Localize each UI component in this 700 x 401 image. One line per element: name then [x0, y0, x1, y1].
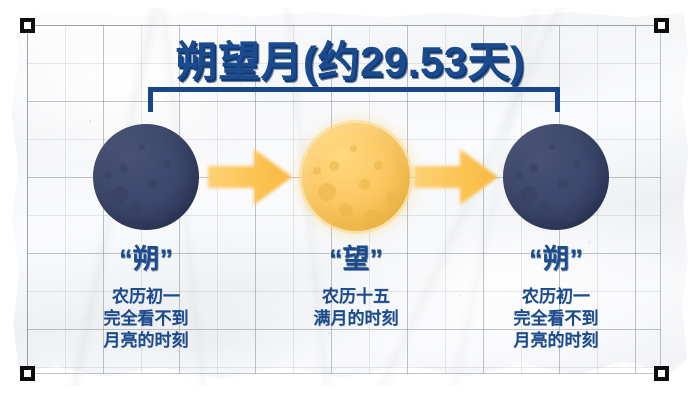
phase-block-new-moon-left: “朔” 农历初一 完全看不到 月亮的时刻: [46, 246, 246, 352]
registration-mark-bottom-right: [654, 366, 669, 381]
crater: [558, 179, 568, 189]
crater: [174, 190, 185, 201]
crater: [139, 144, 145, 150]
crater: [129, 202, 142, 215]
phase-description: 农历初一 完全看不到 月亮的时刻: [46, 286, 246, 352]
crater: [521, 186, 538, 203]
crater: [318, 183, 336, 201]
phase-desc-line: 农历初一: [456, 286, 656, 308]
crater: [329, 161, 339, 171]
phase-name: “朔”: [46, 246, 246, 273]
arrow-right-icon: [414, 146, 498, 208]
infographic-canvas: 朔望月(约29.53天): [0, 0, 700, 401]
crater: [359, 179, 370, 190]
phase-desc-line: 完全看不到: [456, 308, 656, 330]
crater: [515, 172, 522, 179]
crater: [549, 144, 555, 150]
moon-new-left: [93, 124, 199, 230]
phase-name: “朔”: [456, 246, 656, 273]
crater: [111, 186, 128, 203]
synodic-span-bracket: [148, 87, 560, 112]
crater: [153, 208, 168, 223]
arrow-right-icon: [208, 146, 292, 208]
crater: [105, 172, 112, 179]
crater: [563, 208, 578, 223]
phase-description: 农历初一 完全看不到 月亮的时刻: [456, 286, 656, 352]
crater: [313, 167, 321, 175]
crater: [339, 203, 353, 217]
phase-desc-line: 月亮的时刻: [456, 330, 656, 352]
crater: [386, 191, 398, 203]
phase-desc-line: 农历十五: [256, 286, 456, 308]
moon-full: [302, 123, 410, 231]
page-title: 朔望月(约29.53天): [0, 28, 700, 89]
phase-desc-line: 完全看不到: [46, 308, 246, 330]
crater: [364, 209, 380, 225]
phase-desc-line: 满月的时刻: [256, 308, 456, 330]
crater: [374, 161, 383, 170]
phase-block-full-moon: “望” 农历十五 满月的时刻: [256, 246, 456, 330]
phase-desc-line: 月亮的时刻: [46, 330, 246, 352]
phase-name: “望”: [256, 246, 456, 273]
crater: [119, 164, 128, 173]
crater: [529, 164, 538, 173]
phase-description: 农历十五 满月的时刻: [256, 286, 456, 330]
crater: [573, 160, 581, 168]
moon-new-right: [503, 124, 609, 230]
crater: [584, 190, 595, 201]
registration-mark-bottom-left: [20, 366, 35, 381]
crater: [350, 145, 357, 152]
crater: [539, 202, 552, 215]
phase-desc-line: 农历初一: [46, 286, 246, 308]
crater: [163, 160, 171, 168]
crater: [148, 179, 158, 189]
phase-block-new-moon-right: “朔” 农历初一 完全看不到 月亮的时刻: [456, 246, 656, 352]
